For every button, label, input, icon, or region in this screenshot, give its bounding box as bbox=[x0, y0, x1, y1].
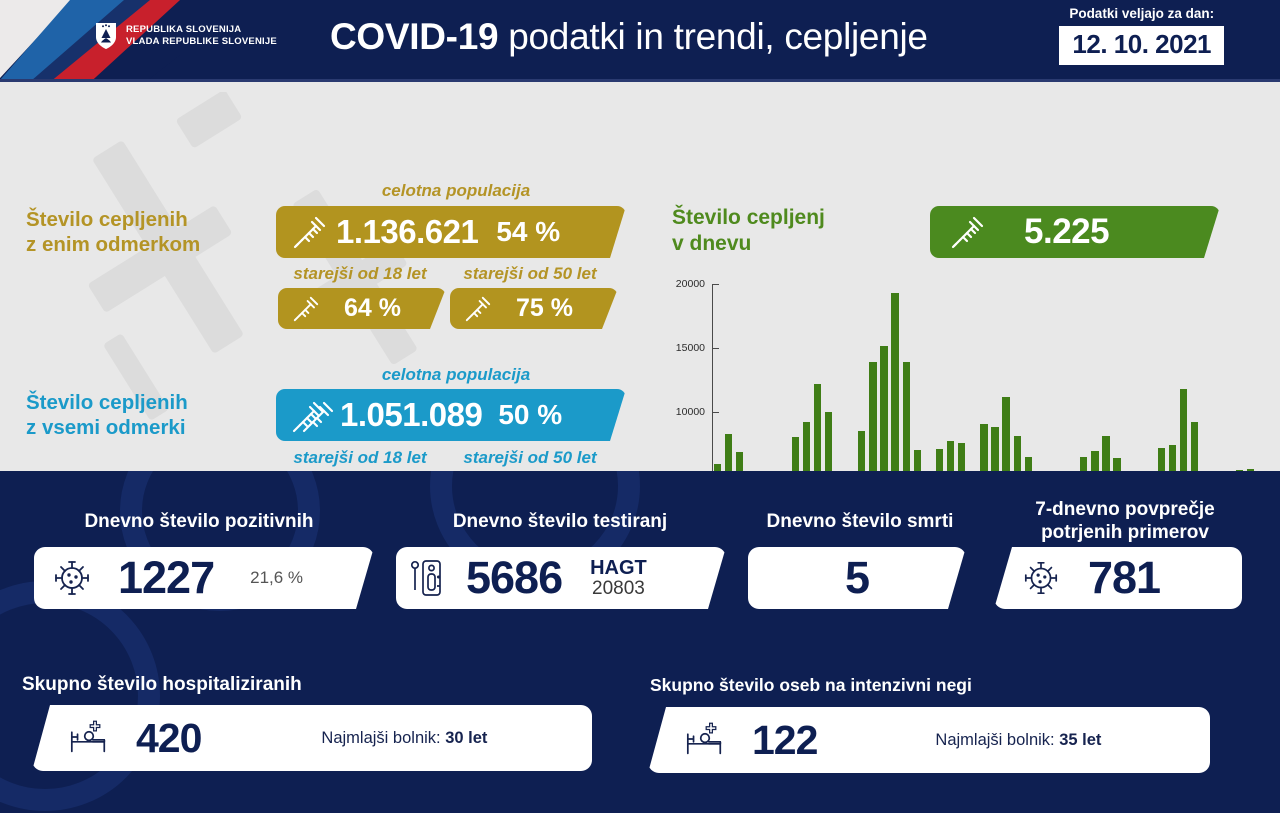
one-dose-total-percent: 54 % bbox=[496, 216, 560, 248]
note-icu-label: Najmlajši bolnik: bbox=[935, 731, 1059, 749]
chart-bar bbox=[1113, 458, 1120, 471]
note-icu-value: 35 let bbox=[1059, 731, 1101, 749]
card-daily-tests: 5686 HAGT 20803 bbox=[396, 547, 726, 609]
full-dose-label-line2: z vsemi odmerki bbox=[26, 416, 186, 439]
syringe-icon bbox=[462, 293, 494, 325]
data-date-label: Podatki veljajo za dan: bbox=[1059, 6, 1224, 21]
chart-bar bbox=[803, 422, 810, 471]
y-axis-tick bbox=[712, 412, 719, 413]
note-hospitalized: Najmlajši bolnik: 30 let bbox=[321, 729, 487, 748]
value-icu: 122 bbox=[752, 717, 817, 764]
chart-bar bbox=[1169, 445, 1176, 471]
y-axis-tick-label: 10000 bbox=[672, 406, 705, 418]
chart-bar bbox=[814, 384, 821, 471]
one-dose-18-percent: 64 % bbox=[344, 294, 401, 323]
hagt-label: HAGT bbox=[590, 557, 647, 579]
y-axis-tick bbox=[712, 348, 719, 349]
virus-icon bbox=[1022, 559, 1060, 597]
syringe-icon bbox=[290, 212, 330, 252]
hospital-bed-icon bbox=[68, 718, 110, 758]
chart-bar bbox=[1102, 436, 1109, 471]
chart-bar bbox=[980, 424, 987, 471]
test-kit-icon bbox=[410, 557, 444, 599]
chart-bar bbox=[1091, 451, 1098, 471]
card-icu: 122 Najmlajši bolnik: 35 let bbox=[648, 707, 1210, 773]
card-7day-average: 781 bbox=[994, 547, 1242, 609]
one-dose-label-line2: z enim odmerkom bbox=[26, 233, 200, 256]
full-dose-section-label: Število cepljenih z vsemi odmerki bbox=[26, 390, 188, 441]
virus-icon bbox=[52, 558, 92, 598]
gov-line-1: REPUBLIKA SLOVENIJA bbox=[126, 24, 277, 36]
page-header: REPUBLIKA SLOVENIJA VLADA REPUBLIKE SLOV… bbox=[0, 0, 1280, 82]
note-icu: Najmlajši bolnik: 35 let bbox=[935, 731, 1101, 750]
statistics-panel: Dnevno število pozitivnih Dnevno število… bbox=[0, 471, 1280, 813]
hospital-bed-icon bbox=[684, 720, 726, 760]
extra-daily-positives-percent: 21,6 % bbox=[250, 568, 303, 588]
one-dose-total-chip: 1.136.621 54 % bbox=[276, 206, 626, 258]
chart-bar bbox=[858, 431, 865, 471]
card-daily-deaths: 5 bbox=[748, 547, 966, 609]
chart-bar bbox=[1014, 436, 1021, 471]
coat-of-arms-icon bbox=[95, 22, 117, 50]
chart-bar bbox=[891, 293, 898, 471]
data-date-block: Podatki veljajo za dan: 12. 10. 2021 bbox=[1059, 6, 1224, 65]
full-dose-total-chip: 1.051.089 50 % bbox=[276, 389, 626, 441]
full-dose-total-caption: celotna populacija bbox=[286, 365, 626, 385]
stat-title-hospitalized: Skupno število hospitaliziranih bbox=[22, 674, 402, 697]
full-dose-18-caption: starejši od 18 let bbox=[280, 448, 440, 468]
one-dose-50-caption: starejši od 50 let bbox=[450, 264, 610, 284]
card-daily-positives: 1227 21,6 % bbox=[34, 547, 374, 609]
chart-bar bbox=[1191, 422, 1198, 471]
chart-bar bbox=[792, 437, 799, 471]
one-dose-total-caption: celotna populacija bbox=[286, 181, 626, 201]
stat-title-deaths: Dnevno število smrti bbox=[740, 511, 980, 534]
one-dose-total-value: 1.136.621 bbox=[336, 213, 478, 251]
one-dose-50-percent: 75 % bbox=[516, 294, 573, 323]
one-dose-label-line1: Število cepljenih bbox=[26, 208, 188, 231]
y-axis-tick-label: 20000 bbox=[672, 278, 705, 290]
chart-bar bbox=[1080, 457, 1087, 471]
chart-bar bbox=[914, 450, 921, 471]
vaccination-panel: Število cepljenih z enim odmerkom celotn… bbox=[0, 82, 1280, 471]
one-dose-18-chip: 64 % bbox=[278, 288, 446, 329]
stat-title-positives: Dnevno število pozitivnih bbox=[24, 511, 374, 534]
full-dose-label-line1: Število cepljenih bbox=[26, 391, 188, 414]
y-axis-line bbox=[712, 284, 713, 471]
chart-bar bbox=[869, 362, 876, 471]
value-7day-average: 781 bbox=[1088, 552, 1160, 604]
chart-bar bbox=[947, 441, 954, 471]
chart-bar bbox=[880, 346, 887, 471]
full-dose-total-value: 1.051.089 bbox=[340, 396, 482, 434]
chart-bar bbox=[903, 362, 910, 471]
data-date-value: 12. 10. 2021 bbox=[1059, 26, 1224, 65]
double-syringe-icon bbox=[290, 395, 336, 435]
stat-title-7day-avg: 7-dnevno povprečje potrjenih primerov bbox=[995, 499, 1255, 545]
chart-bar bbox=[1180, 389, 1187, 471]
chart-bar bbox=[725, 434, 732, 471]
note-hospitalized-label: Najmlajši bolnik: bbox=[321, 729, 445, 747]
government-logo: REPUBLIKA SLOVENIJA VLADA REPUBLIKE SLOV… bbox=[95, 22, 277, 50]
page-title-bold: COVID-19 bbox=[330, 16, 498, 57]
value-daily-tests: 5686 bbox=[466, 552, 562, 604]
stat-title-tests: Dnevno število testiranj bbox=[395, 511, 725, 534]
chart-bar bbox=[825, 412, 832, 472]
full-dose-50-caption: starejši od 50 let bbox=[450, 448, 610, 468]
chart-bar bbox=[936, 449, 943, 471]
card-hospitalized: 420 Najmlajši bolnik: 30 let bbox=[32, 705, 592, 771]
value-daily-deaths: 5 bbox=[845, 552, 869, 604]
syringe-icon bbox=[290, 293, 322, 325]
chart-bar bbox=[1025, 457, 1032, 471]
chart-bar bbox=[1158, 448, 1165, 471]
stat-title-7day-avg-line2: potrjenih primerov bbox=[1041, 522, 1209, 543]
full-dose-total-percent: 50 % bbox=[498, 399, 562, 431]
stat-title-7day-avg-line1: 7-dnevno povprečje bbox=[1035, 499, 1215, 520]
chart-bar bbox=[714, 464, 721, 471]
one-dose-18-caption: starejši od 18 let bbox=[280, 264, 440, 284]
chart-bar bbox=[958, 443, 965, 471]
note-hospitalized-value: 30 let bbox=[445, 729, 487, 747]
one-dose-50-chip: 75 % bbox=[450, 288, 618, 329]
y-axis-tick-label: 15000 bbox=[672, 342, 705, 354]
chart-bar bbox=[1002, 397, 1009, 471]
one-dose-section-label: Število cepljenih z enim odmerkom bbox=[26, 207, 200, 258]
value-hospitalized: 420 bbox=[136, 715, 201, 762]
hagt-value: 20803 bbox=[592, 578, 645, 599]
stat-title-icu: Skupno število oseb na intenzivni negi bbox=[650, 675, 1120, 696]
daily-vaccinations-bar-chart: 05000100001500020000 bbox=[672, 200, 1272, 468]
value-daily-positives: 1227 bbox=[118, 552, 214, 604]
page-title: COVID-19 podatki in trendi, cepljenje bbox=[330, 16, 970, 58]
y-axis-tick bbox=[712, 284, 719, 285]
extra-daily-tests-hagt: HAGT 20803 bbox=[590, 558, 647, 599]
gov-line-2: VLADA REPUBLIKE SLOVENIJE bbox=[126, 36, 277, 48]
page-title-rest: podatki in trendi, cepljenje bbox=[498, 16, 927, 57]
chart-bar bbox=[736, 452, 743, 471]
chart-bar bbox=[991, 427, 998, 471]
